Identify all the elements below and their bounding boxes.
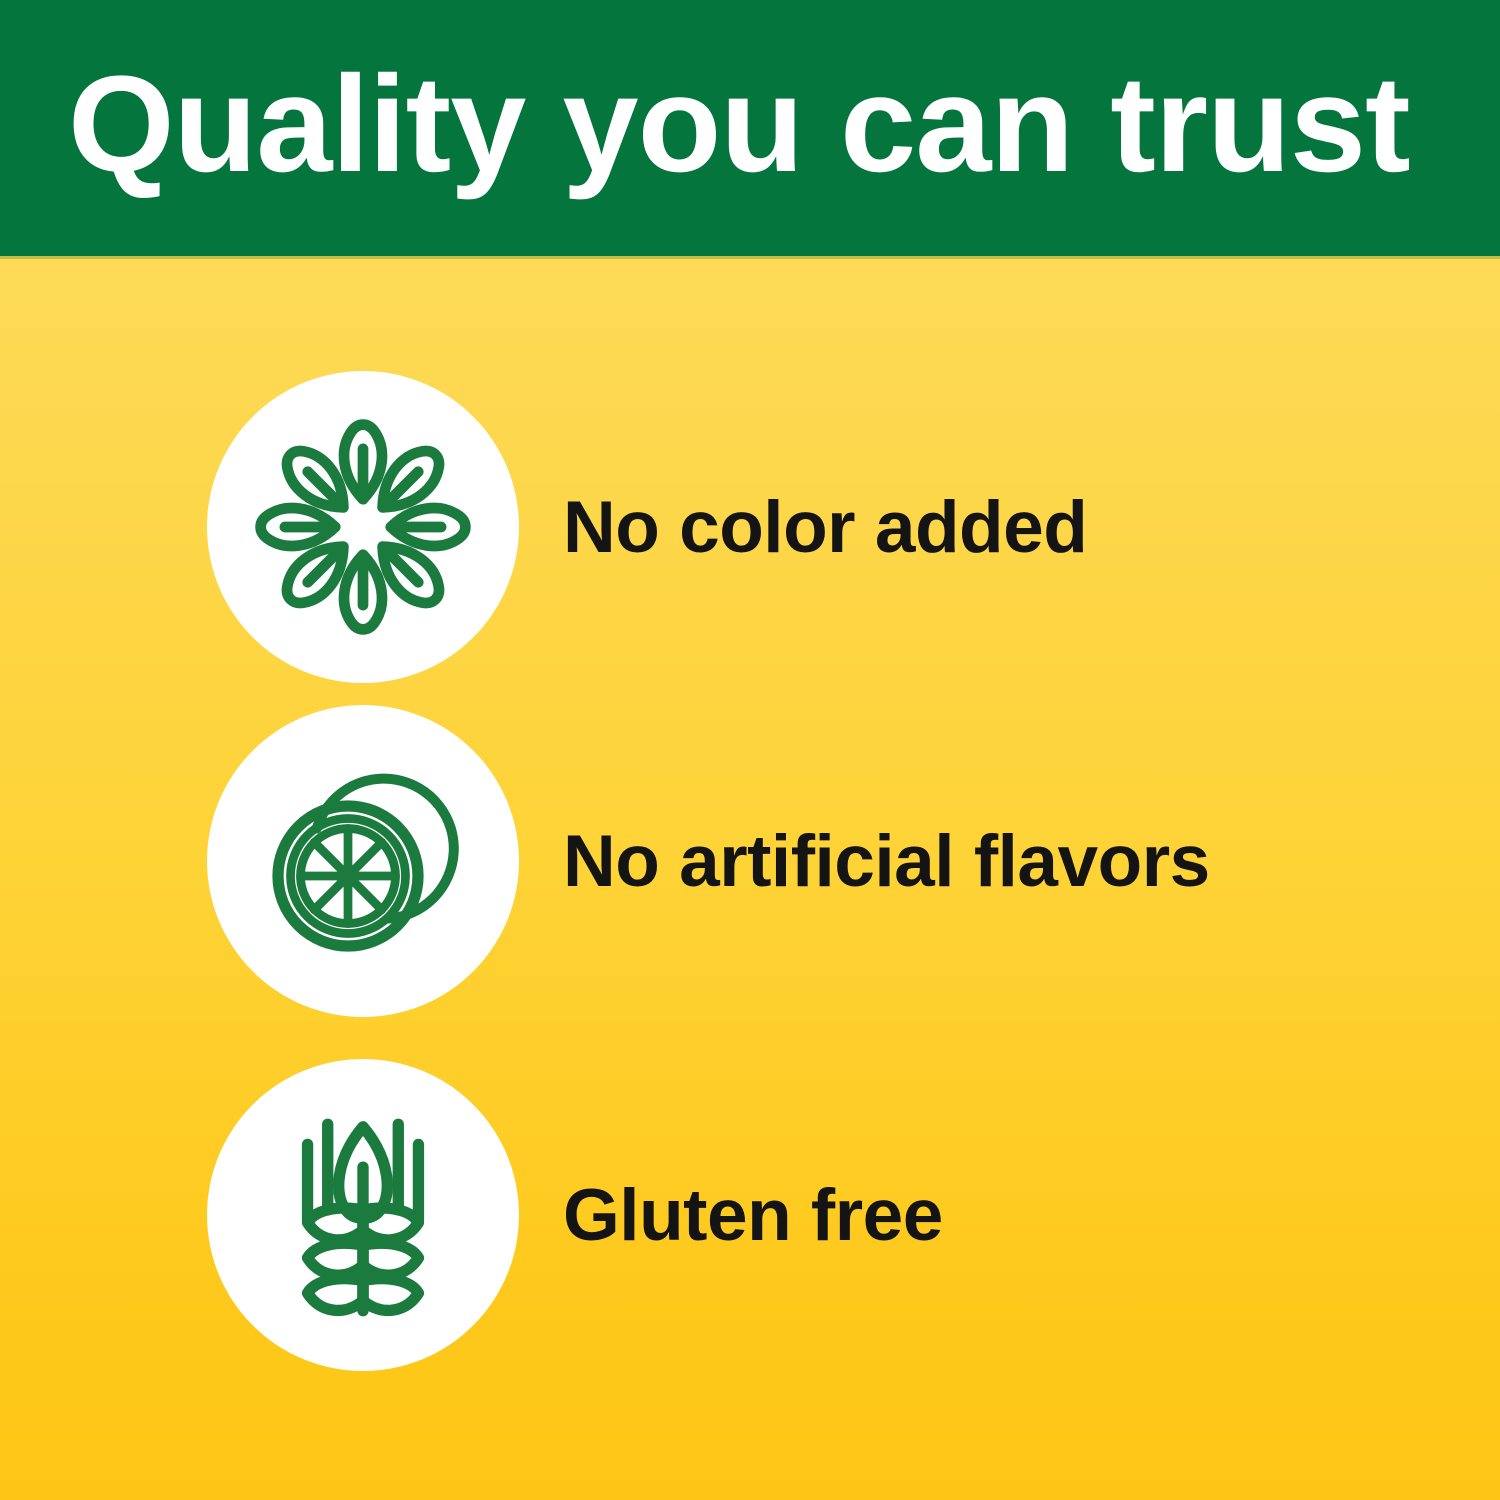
flower-rosette-icon bbox=[237, 401, 489, 653]
citrus-slice-icon bbox=[238, 736, 488, 986]
icon-badge bbox=[207, 1059, 519, 1371]
feature-row: No color added bbox=[0, 369, 1500, 685]
feature-list: No color added bbox=[0, 256, 1500, 1500]
feature-row: No artificial flavors bbox=[0, 703, 1500, 1019]
quality-claims-poster: Quality you can trust bbox=[0, 0, 1500, 1500]
wheat-stalk-icon bbox=[237, 1089, 489, 1341]
feature-label: No artificial flavors bbox=[563, 825, 1210, 898]
feature-label: No color added bbox=[563, 491, 1087, 564]
icon-badge bbox=[207, 705, 519, 1017]
page-title: Quality you can trust bbox=[68, 56, 1410, 193]
icon-badge bbox=[207, 371, 519, 683]
feature-label: Gluten free bbox=[563, 1179, 943, 1252]
feature-row: Gluten free bbox=[0, 1057, 1500, 1373]
header-banner: Quality you can trust bbox=[0, 0, 1500, 256]
